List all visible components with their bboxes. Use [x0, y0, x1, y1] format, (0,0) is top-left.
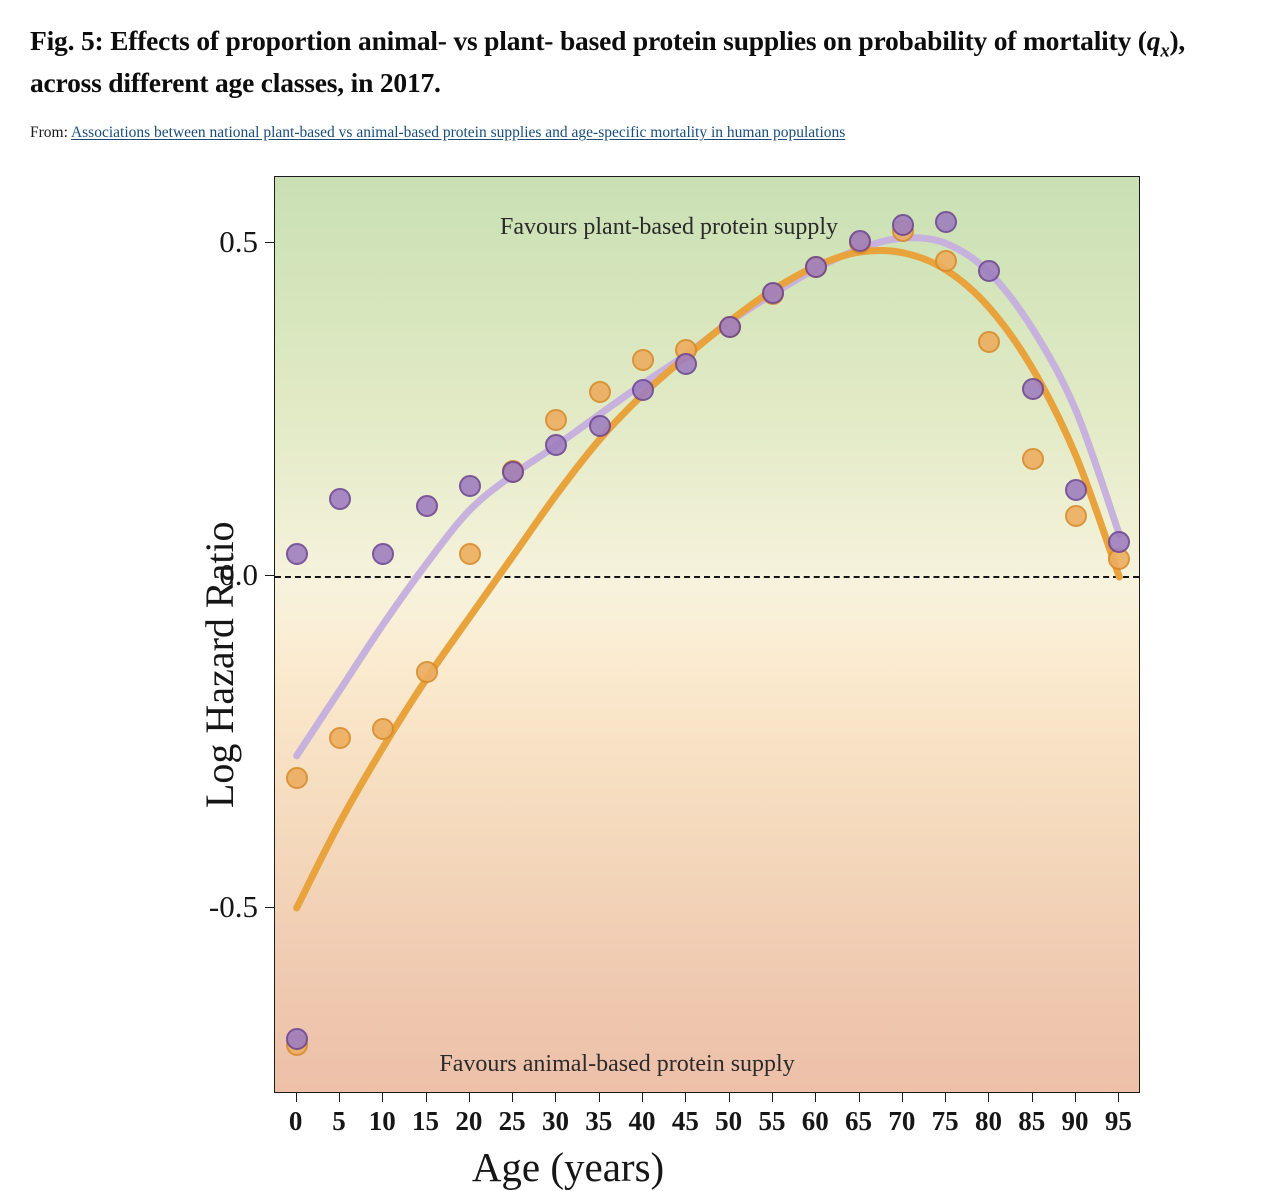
- x-tick-mark: [642, 1093, 643, 1102]
- data-point-females: [372, 543, 394, 565]
- x-tick-mark: [902, 1093, 903, 1102]
- data-point-females: [675, 353, 697, 375]
- series-fit-lines: [275, 177, 1139, 1092]
- x-tick-mark: [1032, 1093, 1033, 1102]
- x-axis-title: Age (years): [0, 1143, 1286, 1191]
- plot-panel: Favours plant-based protein supply Favou…: [274, 176, 1140, 1093]
- data-point-females: [1108, 531, 1130, 553]
- x-tick-mark: [1075, 1093, 1076, 1102]
- x-tick-label: 80: [975, 1106, 1002, 1137]
- x-tick-mark: [859, 1093, 860, 1102]
- y-tick-label: 0.0: [219, 557, 258, 593]
- x-tick-mark: [815, 1093, 816, 1102]
- data-point-females: [545, 434, 567, 456]
- data-point-females: [1065, 479, 1087, 501]
- x-tick-label: 45: [672, 1106, 699, 1137]
- x-tick-label: 5: [332, 1106, 346, 1137]
- data-point-females: [849, 230, 871, 252]
- data-point-males: [632, 349, 654, 371]
- x-tick-mark: [599, 1093, 600, 1102]
- x-tick-mark: [945, 1093, 946, 1102]
- x-tick-label: 60: [802, 1106, 829, 1137]
- data-point-males: [286, 767, 308, 789]
- x-tick-label: 55: [758, 1106, 785, 1137]
- figure-source-prefix: From:: [30, 124, 68, 141]
- x-tick-label: 65: [845, 1106, 872, 1137]
- data-point-males: [372, 718, 394, 740]
- chart-figure: Log Hazard Ratio -0.50.00.5 Favours plan…: [0, 168, 1286, 1186]
- figure-source: From: Associations between national plan…: [30, 124, 1260, 142]
- data-point-females: [416, 495, 438, 517]
- x-tick-mark: [555, 1093, 556, 1102]
- data-point-females: [459, 475, 481, 497]
- x-tick-mark: [772, 1093, 773, 1102]
- data-point-males: [329, 727, 351, 749]
- x-tick-label: 70: [888, 1106, 915, 1137]
- y-tick-mark: [265, 907, 274, 908]
- x-tick-label: 85: [1018, 1106, 1045, 1137]
- x-tick-mark: [512, 1093, 513, 1102]
- data-point-females: [286, 543, 308, 565]
- data-point-males: [589, 381, 611, 403]
- x-tick-label: 15: [412, 1106, 439, 1137]
- x-tick-mark: [988, 1093, 989, 1102]
- data-point-females: [719, 316, 741, 338]
- figure-page: Fig. 5: Effects of proportion animal- vs…: [0, 0, 1286, 1186]
- data-point-females: [502, 461, 524, 483]
- x-tick-mark: [426, 1093, 427, 1102]
- data-point-males: [1022, 448, 1044, 470]
- data-point-females: [978, 260, 1000, 282]
- data-point-females: [762, 282, 784, 304]
- data-point-females: [892, 214, 914, 236]
- y-tick-label: -0.5: [209, 889, 258, 925]
- figure-title-line2-pre: mortality (: [1023, 25, 1147, 56]
- x-axis-title-text: Age (years): [472, 1143, 664, 1191]
- x-tick-label: 0: [289, 1106, 303, 1137]
- data-point-males: [416, 661, 438, 683]
- data-point-females: [286, 1028, 308, 1050]
- x-tick-mark: [685, 1093, 686, 1102]
- x-tick-label: 90: [1062, 1106, 1089, 1137]
- figure-header: Fig. 5: Effects of proportion animal- vs…: [30, 22, 1260, 142]
- y-tick-label: 0.5: [219, 224, 258, 260]
- figure-source-link[interactable]: Associations between national plant-base…: [71, 124, 845, 141]
- data-point-females: [1022, 378, 1044, 400]
- x-tick-label: 35: [585, 1106, 612, 1137]
- data-point-males: [978, 331, 1000, 353]
- x-tick-label: 40: [629, 1106, 656, 1137]
- x-tick-mark: [296, 1093, 297, 1102]
- x-tick-label: 25: [499, 1106, 526, 1137]
- data-point-males: [545, 409, 567, 431]
- x-tick-mark: [339, 1093, 340, 1102]
- x-tick-mark: [729, 1093, 730, 1102]
- data-point-males: [1065, 505, 1087, 527]
- x-tick-label: 20: [455, 1106, 482, 1137]
- x-axis: 05101520253035404550556065707580859095: [0, 1093, 1286, 1133]
- data-point-males: [459, 543, 481, 565]
- x-tick-label: 50: [715, 1106, 742, 1137]
- data-point-females: [632, 379, 654, 401]
- x-tick-mark: [1118, 1093, 1119, 1102]
- data-point-females: [935, 211, 957, 233]
- y-tick-mark: [265, 242, 274, 243]
- page-title: Fig. 5: Effects of proportion animal- vs…: [30, 22, 1260, 102]
- x-tick-label: 30: [542, 1106, 569, 1137]
- x-tick-label: 75: [932, 1106, 959, 1137]
- data-point-females: [589, 415, 611, 437]
- figure-title-q-symbol: q: [1147, 25, 1161, 56]
- y-tick-mark: [265, 575, 274, 576]
- x-tick-mark: [382, 1093, 383, 1102]
- data-point-females: [329, 488, 351, 510]
- x-tick-label: 95: [1105, 1106, 1132, 1137]
- x-tick-mark: [469, 1093, 470, 1102]
- x-tick-label: 10: [369, 1106, 396, 1137]
- data-point-females: [805, 256, 827, 278]
- figure-title-line1: Fig. 5: Effects of proportion animal- vs…: [30, 25, 1016, 56]
- y-axis: -0.50.00.5: [0, 168, 258, 1186]
- data-point-males: [935, 250, 957, 272]
